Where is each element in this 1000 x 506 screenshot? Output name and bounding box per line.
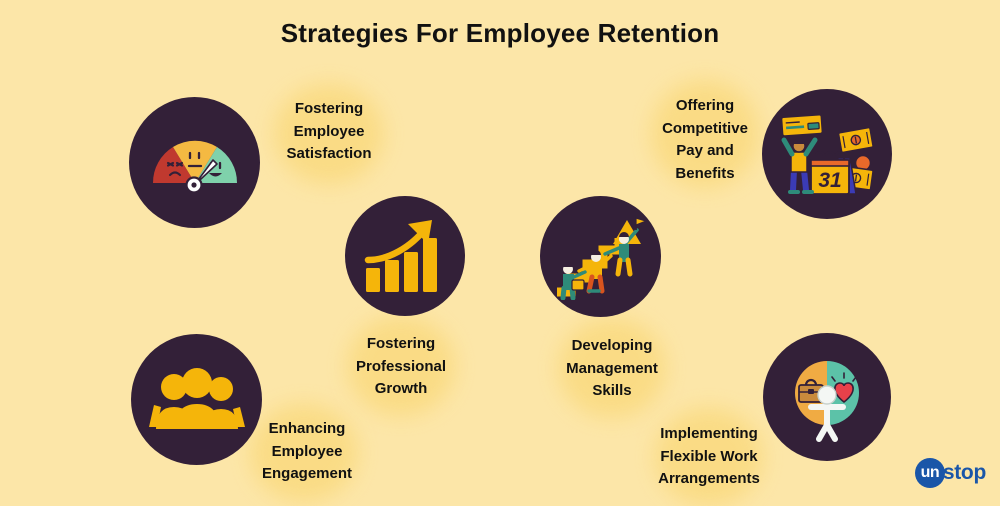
- work-life-balance-icon: [781, 351, 873, 443]
- team-climbing-arrow-icon: [553, 214, 649, 300]
- growth-bar-chart-icon: [362, 216, 448, 296]
- unstop-logo-word: stop: [943, 461, 986, 485]
- satisfaction-gauge-icon: [147, 127, 243, 199]
- node-offering-competitive-pay-and-benefits[interactable]: 31: [762, 89, 892, 219]
- label-fostering-professional-growth: Fostering Professional Growth: [326, 333, 476, 401]
- label-offering-competitive-pay-and-benefits: Offering Competitive Pay and Benefits: [635, 95, 775, 185]
- page-title: Strategies For Employee Retention: [0, 18, 1000, 49]
- payday-calendar-icon: 31: [778, 108, 876, 200]
- label-enhancing-employee-engagement: Enhancing Employee Engagement: [232, 418, 382, 486]
- unstop-logo-mark: un: [915, 458, 945, 488]
- infographic-canvas: Strategies For Employee Retention: [0, 0, 1000, 500]
- unstop-logo[interactable]: un stop: [915, 458, 986, 488]
- calendar-day-number: 31: [818, 169, 841, 192]
- node-fostering-employee-satisfaction[interactable]: [129, 97, 260, 228]
- label-implementing-flexible-work-arrangements: Implementing Flexible Work Arrangements: [634, 423, 784, 491]
- label-fostering-employee-satisfaction: Fostering Employee Satisfaction: [254, 98, 404, 166]
- node-developing-management-skills[interactable]: [540, 196, 661, 317]
- node-fostering-professional-growth[interactable]: [345, 196, 465, 316]
- label-developing-management-skills: Developing Management Skills: [537, 335, 687, 403]
